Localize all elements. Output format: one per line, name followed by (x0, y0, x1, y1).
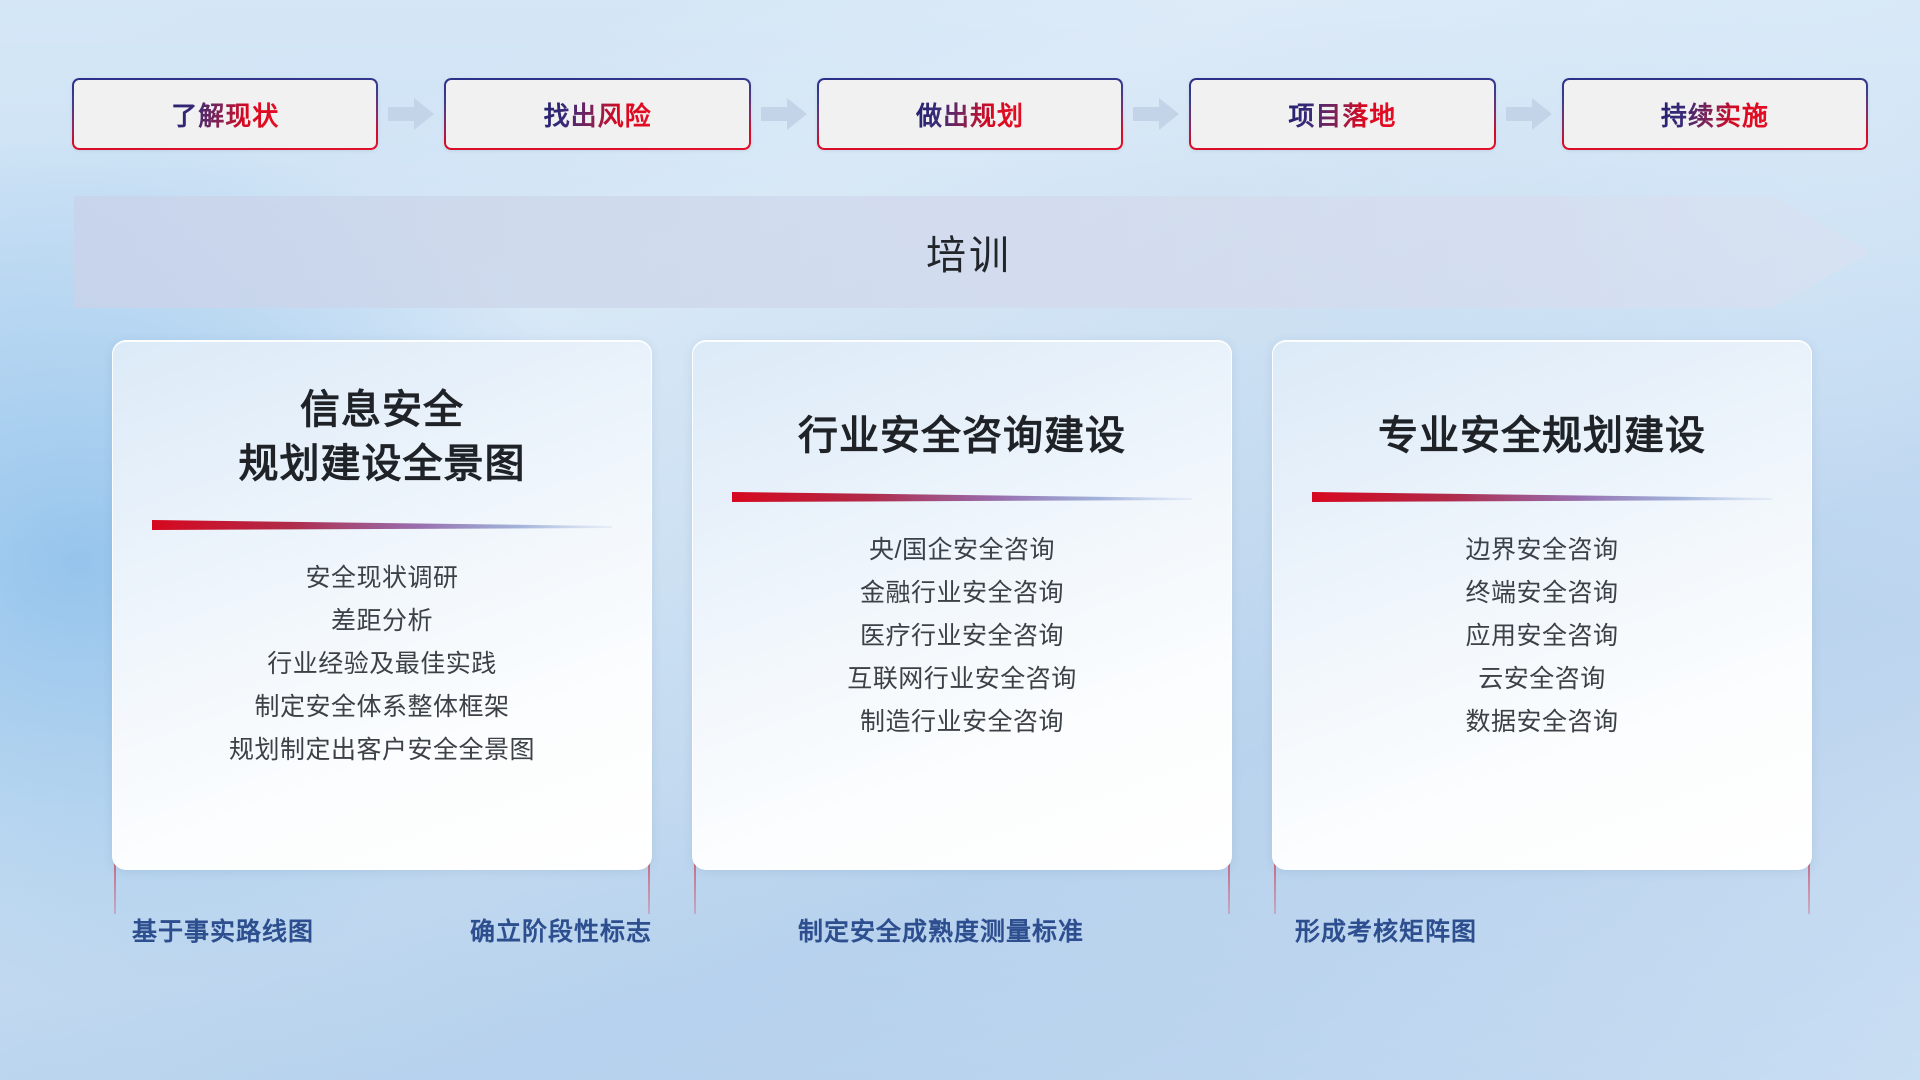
card-title-2: 行业安全咨询建设 (798, 409, 1126, 463)
service-card-3[interactable]: 专业安全规划建设边界安全咨询终端安全咨询应用安全咨询云安全咨询数据安全咨询 (1272, 340, 1812, 870)
step-box-5[interactable]: 持续实施 (1562, 78, 1868, 150)
list-item: 终端安全咨询 (1307, 572, 1777, 615)
step-label-4: 项目落地 (1288, 96, 1396, 133)
footnote-row: 基于事实路线图确立阶段性标志制定安全成熟度测量标准形成考核矩阵图 (0, 912, 1920, 958)
step-arrow-2 (751, 94, 817, 134)
card-list-1: 安全现状调研差距分析行业经验及最佳实践制定安全体系整体框架规划制定出客户安全全景… (147, 557, 617, 772)
arrow-right-icon (1506, 97, 1552, 131)
list-item: 云安全咨询 (1307, 658, 1777, 701)
list-item: 应用安全咨询 (1307, 615, 1777, 658)
list-item: 规划制定出客户安全全景图 (147, 729, 617, 772)
list-item: 央/国企安全咨询 (727, 529, 1197, 572)
slide-canvas: 了解现状找出风险做出规划项目落地持续实施 培训 信息安全 规划建设全景图安全现状… (0, 0, 1920, 1080)
card-row: 信息安全 规划建设全景图安全现状调研差距分析行业经验及最佳实践制定安全体系整体框… (112, 340, 1812, 892)
list-item: 金融行业安全咨询 (727, 572, 1197, 615)
training-banner: 培训 (74, 196, 1870, 308)
list-item: 医疗行业安全咨询 (727, 615, 1197, 658)
list-item: 行业经验及最佳实践 (147, 643, 617, 686)
footnote-label-4: 形成考核矩阵图 (1295, 912, 1477, 948)
card-wrapper-2: 行业安全咨询建设央/国企安全咨询金融行业安全咨询医疗行业安全咨询互联网行业安全咨… (692, 340, 1232, 892)
list-item: 差距分析 (147, 600, 617, 643)
arrow-right-icon (388, 97, 434, 131)
list-item: 数据安全咨询 (1307, 701, 1777, 744)
step-arrow-3 (1123, 94, 1189, 134)
footnote-label-2: 确立阶段性标志 (470, 912, 652, 948)
service-card-2[interactable]: 行业安全咨询建设央/国企安全咨询金融行业安全咨询医疗行业安全咨询互联网行业安全咨… (692, 340, 1232, 870)
list-item: 边界安全咨询 (1307, 529, 1777, 572)
step-box-2[interactable]: 找出风险 (444, 78, 750, 150)
list-item: 互联网行业安全咨询 (727, 658, 1197, 701)
list-item: 制定安全体系整体框架 (147, 686, 617, 729)
footnote-label-1: 基于事实路线图 (132, 912, 314, 948)
step-label-3: 做出规划 (916, 96, 1024, 133)
arrow-right-icon (1133, 97, 1179, 131)
card-title-1: 信息安全 规划建设全景图 (239, 383, 526, 491)
card-wrapper-3: 专业安全规划建设边界安全咨询终端安全咨询应用安全咨询云安全咨询数据安全咨询 (1272, 340, 1812, 892)
process-step-row: 了解现状找出风险做出规划项目落地持续实施 (72, 78, 1868, 150)
step-box-4[interactable]: 项目落地 (1189, 78, 1495, 150)
card-list-2: 央/国企安全咨询金融行业安全咨询医疗行业安全咨询互联网行业安全咨询制造行业安全咨… (727, 529, 1197, 744)
step-arrow-1 (378, 94, 444, 134)
arrow-right-icon (761, 97, 807, 131)
card-list-3: 边界安全咨询终端安全咨询应用安全咨询云安全咨询数据安全咨询 (1307, 529, 1777, 744)
card-title-3: 专业安全规划建设 (1378, 409, 1706, 463)
step-label-5: 持续实施 (1661, 96, 1769, 133)
banner-title: 培训 (74, 196, 1864, 308)
step-arrow-4 (1496, 94, 1562, 134)
step-box-3[interactable]: 做出规划 (817, 78, 1123, 150)
step-label-2: 找出风险 (544, 96, 652, 133)
step-label-1: 了解现状 (171, 96, 279, 133)
list-item: 安全现状调研 (147, 557, 617, 600)
card-divider-3 (1312, 489, 1772, 505)
card-wrapper-1: 信息安全 规划建设全景图安全现状调研差距分析行业经验及最佳实践制定安全体系整体框… (112, 340, 652, 892)
card-divider-2 (732, 489, 1192, 505)
footnote-label-3: 制定安全成熟度测量标准 (798, 912, 1084, 948)
step-box-1[interactable]: 了解现状 (72, 78, 378, 150)
card-divider-1 (152, 517, 612, 533)
service-card-1[interactable]: 信息安全 规划建设全景图安全现状调研差距分析行业经验及最佳实践制定安全体系整体框… (112, 340, 652, 870)
list-item: 制造行业安全咨询 (727, 701, 1197, 744)
